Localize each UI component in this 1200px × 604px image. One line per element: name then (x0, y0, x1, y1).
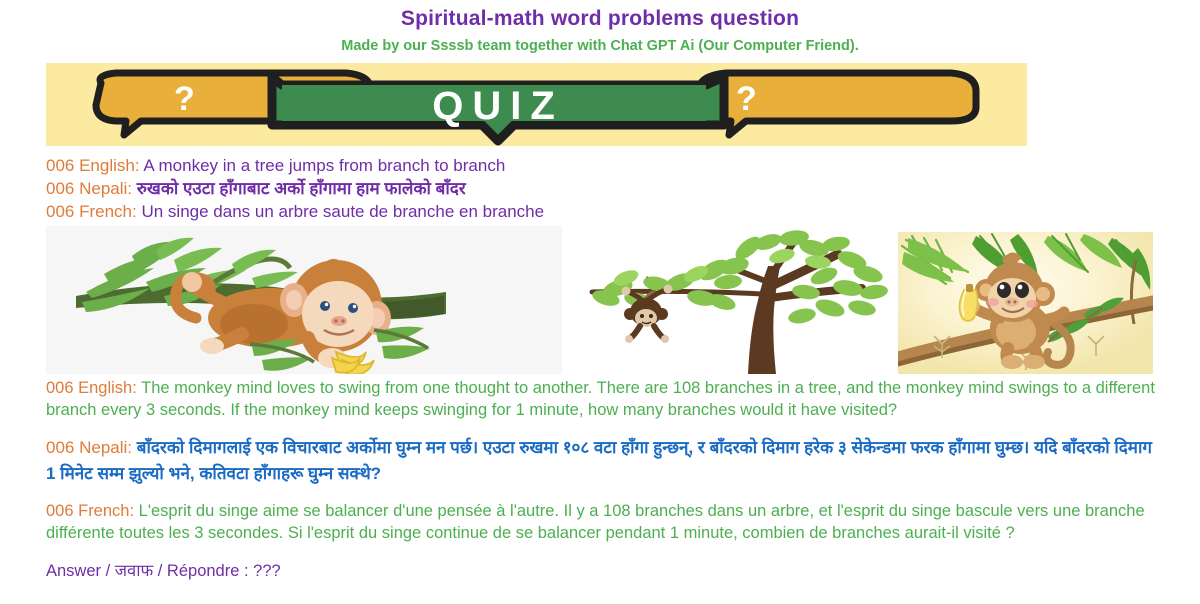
paragraph-english: 006 English: The monkey mind loves to sw… (46, 378, 1166, 422)
short-line-english-text: A monkey in a tree jumps from branch to … (143, 156, 505, 175)
image-monkey-on-vine-jungle (898, 232, 1153, 374)
paragraph-block: 006 English: The monkey mind loves to sw… (46, 378, 1166, 580)
right-bubble-question-mark: ? (736, 80, 757, 118)
image-strip (46, 226, 1153, 374)
short-line-nepali-label: 006 Nepali: (46, 179, 132, 198)
paragraph-english-label: 006 English: (46, 379, 137, 397)
monkey-on-vine-jungle-graphic (898, 232, 1153, 374)
paragraph-french-label: 006 French: (46, 502, 134, 520)
answer-line: Answer / जवाफ / Répondre : ??? (46, 558, 1166, 581)
image-tree-with-hanging-monkey (562, 226, 898, 374)
short-line-nepali: 006 Nepali: रुखको एउटा हाँगाबाट अर्को हा… (46, 178, 1200, 201)
paragraph-nepali-label: 006 Nepali: (46, 438, 132, 457)
image-monkey-lying-on-branch (46, 226, 562, 374)
short-line-english: 006 English: A monkey in a tree jumps fr… (46, 155, 1200, 178)
page-title: Spiritual-math word problems question (0, 4, 1200, 31)
left-bubble-question-mark: ? (174, 80, 195, 118)
monkey-lying-on-branch-graphic (46, 226, 562, 374)
short-line-english-label: 006 English: (46, 156, 140, 175)
quiz-plaque-text: QUIZ (432, 84, 564, 128)
paragraph-french: 006 French: L'esprit du singe aime se ba… (46, 501, 1166, 545)
paragraph-french-text: L'esprit du singe aime se balancer d'une… (46, 502, 1145, 542)
page-subtitle: Made by our Ssssb team together with Cha… (0, 38, 1200, 54)
tree-with-hanging-monkey-graphic (562, 226, 898, 374)
short-question-lines: 006 English: A monkey in a tree jumps fr… (46, 155, 1200, 223)
paragraph-english-text: The monkey mind loves to swing from one … (46, 379, 1155, 419)
short-line-french-text: Un singe dans un arbre saute de branche … (141, 202, 544, 221)
quiz-banner-graphic: ? ? QUIZ (46, 63, 1027, 146)
paragraph-nepali-text: बाँदरको दिमागलाई एक विचारबाट अर्कोमा घुम… (46, 438, 1152, 483)
short-line-french: 006 French: Un singe dans un arbre saute… (46, 201, 1200, 224)
paragraph-nepali: 006 Nepali: बाँदरको दिमागलाई एक विचारबाट… (46, 435, 1166, 487)
quiz-banner: ? ? QUIZ (46, 63, 1027, 146)
short-line-nepali-text: रुखको एउटा हाँगाबाट अर्को हाँगामा हाम फा… (137, 179, 466, 198)
short-line-french-label: 006 French: (46, 202, 137, 221)
